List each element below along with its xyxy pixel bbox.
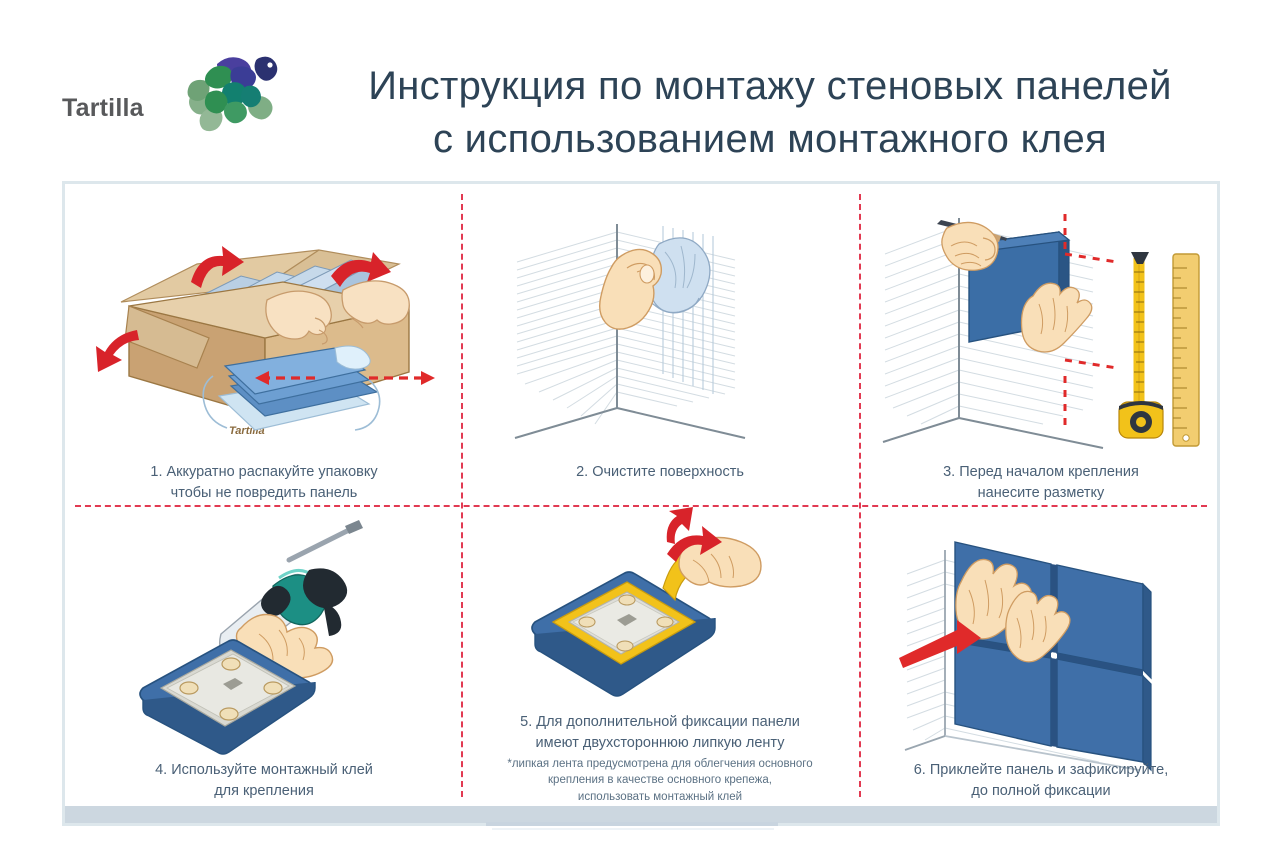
- step-cell-4: 4. Используйте монтажный клей для крепле…: [69, 510, 459, 810]
- brand-name: Tartilla: [62, 94, 144, 123]
- panel5-underline: [486, 822, 778, 826]
- instruction-frame: Tartilla: [62, 181, 1220, 826]
- panel5-underline-inner: [492, 828, 774, 830]
- step-cell-6: 6. Приклейте панель и зафиксируйте, до п…: [863, 510, 1219, 810]
- step-caption-1-line-1: 1. Аккуратно распакуйте упаковку: [69, 462, 459, 483]
- brand-lockup: Tartilla: [62, 42, 292, 142]
- page-title-line-2: с использованием монтажного клея: [290, 113, 1250, 166]
- step-caption-4: 4. Используйте монтажный клей для крепле…: [69, 760, 459, 802]
- glue-gun-illustration: [109, 516, 499, 756]
- box-unpacking-illustration: Tartilla: [69, 190, 459, 460]
- frame-bottom-bar: [65, 806, 1217, 823]
- step-caption-3-line-2: нанесите разметку: [863, 483, 1219, 504]
- step-caption-6: 6. Приклейте панель и зафиксируйте, до п…: [863, 760, 1219, 802]
- adhesive-tape-illustration: [515, 512, 905, 712]
- step-caption-3-line-1: 3. Перед началом крепления: [863, 462, 1219, 483]
- page-title-line-1: Инструкция по монтажу стеновых панелей: [290, 60, 1250, 113]
- turtle-logo-icon: [184, 42, 284, 142]
- step-footnote-5-line-2: крепления в качестве основного крепежа,: [465, 772, 855, 788]
- step-caption-6-line-2: до полной фиксации: [863, 781, 1219, 802]
- step-caption-3: 3. Перед началом крепления нанесите разм…: [863, 462, 1219, 504]
- step-cell-2: 2. Очистите поверхность: [465, 190, 855, 502]
- step-footnote-5: *липкая лента предусмотрена для облегчен…: [465, 756, 855, 805]
- wall-cleaning-illustration: [495, 198, 885, 458]
- step-caption-6-line-1: 6. Приклейте панель и зафиксируйте,: [863, 760, 1219, 781]
- step-footnote-5-line-3: использовать монтажный клей: [465, 789, 855, 805]
- step-caption-5-line-2: имеют двухстороннюю липкую ленту: [465, 733, 855, 754]
- step-caption-4-line-2: для крепления: [69, 781, 459, 802]
- step-footnote-5-line-1: *липкая лента предусмотрена для облегчен…: [465, 756, 855, 772]
- step-caption-2: 2. Очистите поверхность: [465, 462, 855, 483]
- step-caption-5: 5. Для дополнительной фиксации панели им…: [465, 712, 855, 754]
- step-caption-4-line-1: 4. Используйте монтажный клей: [69, 760, 459, 781]
- step-caption-1-line-2: чтобы не повредить панель: [69, 483, 459, 504]
- step-cell-1: Tartilla: [69, 190, 459, 502]
- panel-mounting-illustration: [899, 522, 1255, 772]
- step-caption-5-line-1: 5. Для дополнительной фиксации панели: [465, 712, 855, 733]
- page-header: Tartilla: [0, 0, 1280, 178]
- separator-horizontal: [75, 505, 1207, 507]
- step-cell-5: 5. Для дополнительной фиксации панели им…: [465, 510, 855, 810]
- wall-marking-illustration: [873, 196, 1229, 466]
- step-caption-1: 1. Аккуратно распакуйте упаковку чтобы н…: [69, 462, 459, 504]
- page-title: Инструкция по монтажу стеновых панелей с…: [290, 60, 1250, 166]
- step-caption-2-line-1: 2. Очистите поверхность: [465, 462, 855, 483]
- step-cell-3: 3. Перед началом крепления нанесите разм…: [863, 190, 1219, 502]
